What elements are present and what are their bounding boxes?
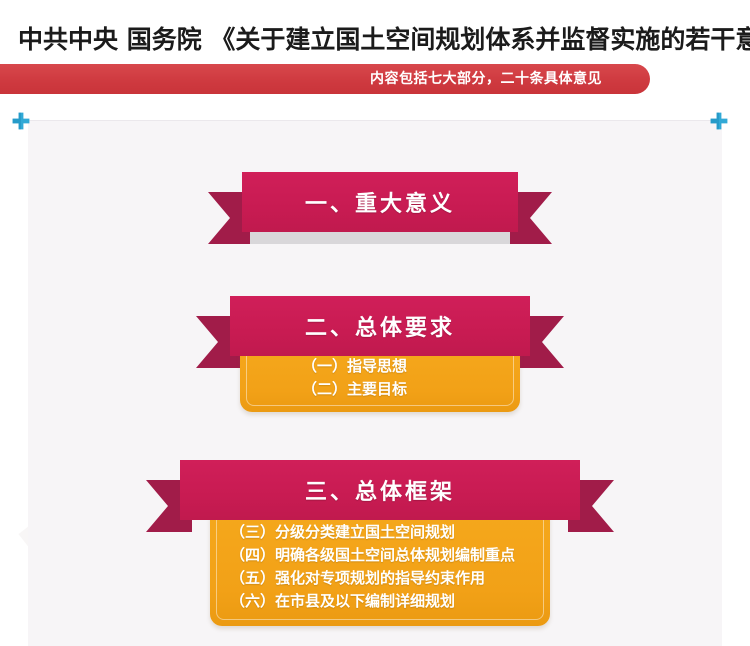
section-three-header: 三、总体框架 [180, 460, 580, 520]
section-one[interactable]: 一、重大意义 [208, 172, 552, 248]
list-item[interactable]: （二）主要目标 [302, 378, 520, 401]
ribbon-shadow [250, 232, 510, 244]
list-item[interactable]: （四）明确各级国土空间总体规划编制重点 [230, 544, 550, 567]
plus-marker-icon [710, 112, 728, 130]
list-item[interactable]: （六）在市县及以下编制详细规划 [230, 590, 550, 613]
list-item[interactable]: （三）分级分类建立国土空间规划 [230, 521, 550, 544]
section-one-label: 一、重大意义 [305, 186, 455, 218]
section-three-item-list: （三）分级分类建立国土空间规划 （四）明确各级国土空间总体规划编制重点 （五）强… [210, 507, 550, 613]
list-item[interactable]: （一）指导思想 [302, 355, 520, 378]
section-two-label: 二、总体要求 [305, 310, 455, 342]
subtitle-banner: 内容包括七大部分，二十条具体意见 [0, 64, 650, 94]
infographic-page: DI RT 中共中央 国务院 《关于建立国土空间规划体系并监督实施的若干意见》 … [0, 0, 750, 646]
section-three-label: 三、总体框架 [305, 474, 455, 506]
section-two[interactable]: （一）指导思想 （二）主要目标 二、总体要求 [196, 296, 564, 414]
list-item[interactable]: （五）强化对专项规划的指导约束作用 [230, 567, 550, 590]
plus-marker-icon [12, 112, 30, 130]
section-three-panel: （三）分级分类建立国土空间规划 （四）明确各级国土空间总体规划编制重点 （五）强… [210, 507, 550, 626]
section-three[interactable]: （三）分级分类建立国土空间规划 （四）明确各级国土空间总体规划编制重点 （五）强… [146, 460, 614, 626]
section-two-header: 二、总体要求 [230, 296, 530, 356]
section-one-header: 一、重大意义 [242, 172, 518, 232]
page-title: 中共中央 国务院 《关于建立国土空间规划体系并监督实施的若干意见》 [18, 20, 750, 56]
subtitle-text: 内容包括七大部分，二十条具体意见 [370, 64, 602, 94]
